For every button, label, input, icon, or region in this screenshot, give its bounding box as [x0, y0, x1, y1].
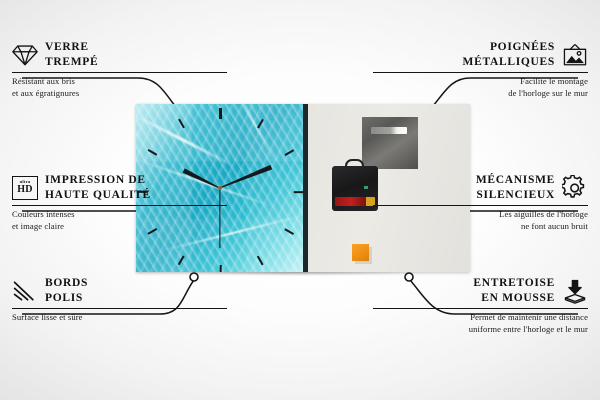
foam-spacer-arrow-icon — [562, 278, 588, 304]
ultra-hd-icon: ultra HD — [12, 176, 38, 200]
foam-spacer — [352, 244, 369, 261]
feature-subtitle-line1: Les aiguilles de l'horloge — [373, 209, 588, 220]
feature-subtitle-line1: Surface lisse et sûre — [12, 312, 227, 323]
clock-mechanism — [332, 166, 378, 211]
feature-header: ENTRETOISE EN MOUSSE — [373, 276, 588, 305]
feature-divider — [373, 72, 588, 73]
feature-impression-haute-qualite[interactable]: ultra HD IMPRESSION DE HAUTE QUALITÉ Cou… — [12, 173, 227, 232]
feature-subtitle-line1: Facilite le montage — [373, 76, 588, 87]
feature-title: POIGNÉES MÉTALLIQUES — [463, 40, 555, 69]
feature-divider — [12, 308, 227, 309]
feature-header: BORDS POLIS — [12, 276, 227, 305]
feature-subtitle-line2: de l'horloge sur le mur — [373, 88, 588, 99]
wall-mount-frame-icon — [562, 42, 588, 68]
feature-bords-polis[interactable]: BORDS POLIS Surface lisse et sûre — [12, 276, 227, 324]
feature-title: MÉCANISME SILENCIEUX — [476, 173, 555, 202]
feature-subtitle-line1: Permet de maintenir une distance — [373, 312, 588, 323]
feature-mecanisme-silencieux[interactable]: MÉCANISME SILENCIEUX Les aiguilles de l'… — [373, 173, 588, 232]
feature-divider — [373, 308, 588, 309]
mechanism-indicator — [364, 186, 368, 189]
feature-divider — [12, 205, 227, 206]
feature-verre-trempe[interactable]: VERRE TREMPÉ Résistant aux bris et aux é… — [12, 40, 227, 99]
polished-edge-icon — [12, 278, 38, 304]
feature-subtitle-line2: ne font aucun bruit — [373, 221, 588, 232]
feature-header: ultra HD IMPRESSION DE HAUTE QUALITÉ — [12, 173, 227, 202]
feature-header: POIGNÉES MÉTALLIQUES — [373, 40, 588, 69]
mechanism-hook — [345, 159, 364, 170]
metal-hanger-plate — [362, 117, 418, 169]
feature-header: MÉCANISME SILENCIEUX — [373, 173, 588, 202]
gear-icon — [562, 175, 588, 201]
feature-header: VERRE TREMPÉ — [12, 40, 227, 69]
feature-entretoise-en-mousse[interactable]: ENTRETOISE EN MOUSSE Permet de maintenir… — [373, 276, 588, 335]
feature-poignees-metalliques[interactable]: POIGNÉES MÉTALLIQUES Facilite le montage… — [373, 40, 588, 99]
feature-title: IMPRESSION DE HAUTE QUALITÉ — [45, 173, 151, 202]
feature-subtitle-line2: et image claire — [12, 221, 227, 232]
feature-subtitle-line2: et aux égratignures — [12, 88, 227, 99]
feature-title: VERRE TREMPÉ — [45, 40, 98, 69]
diamond-icon — [12, 42, 38, 68]
feature-title: ENTRETOISE EN MOUSSE — [473, 276, 555, 305]
battery — [335, 197, 375, 206]
feature-title: BORDS POLIS — [45, 276, 88, 305]
feature-divider — [373, 205, 588, 206]
ultra-hd-icon-large-text: HD — [17, 185, 32, 195]
hanger-slot — [371, 127, 407, 134]
feature-divider — [12, 72, 227, 73]
feature-subtitle-line2: uniforme entre l'horloge et le mur — [373, 324, 588, 335]
feature-subtitle-line1: Résistant aux bris — [12, 76, 227, 87]
feature-subtitle-line1: Couleurs intenses — [12, 209, 227, 220]
